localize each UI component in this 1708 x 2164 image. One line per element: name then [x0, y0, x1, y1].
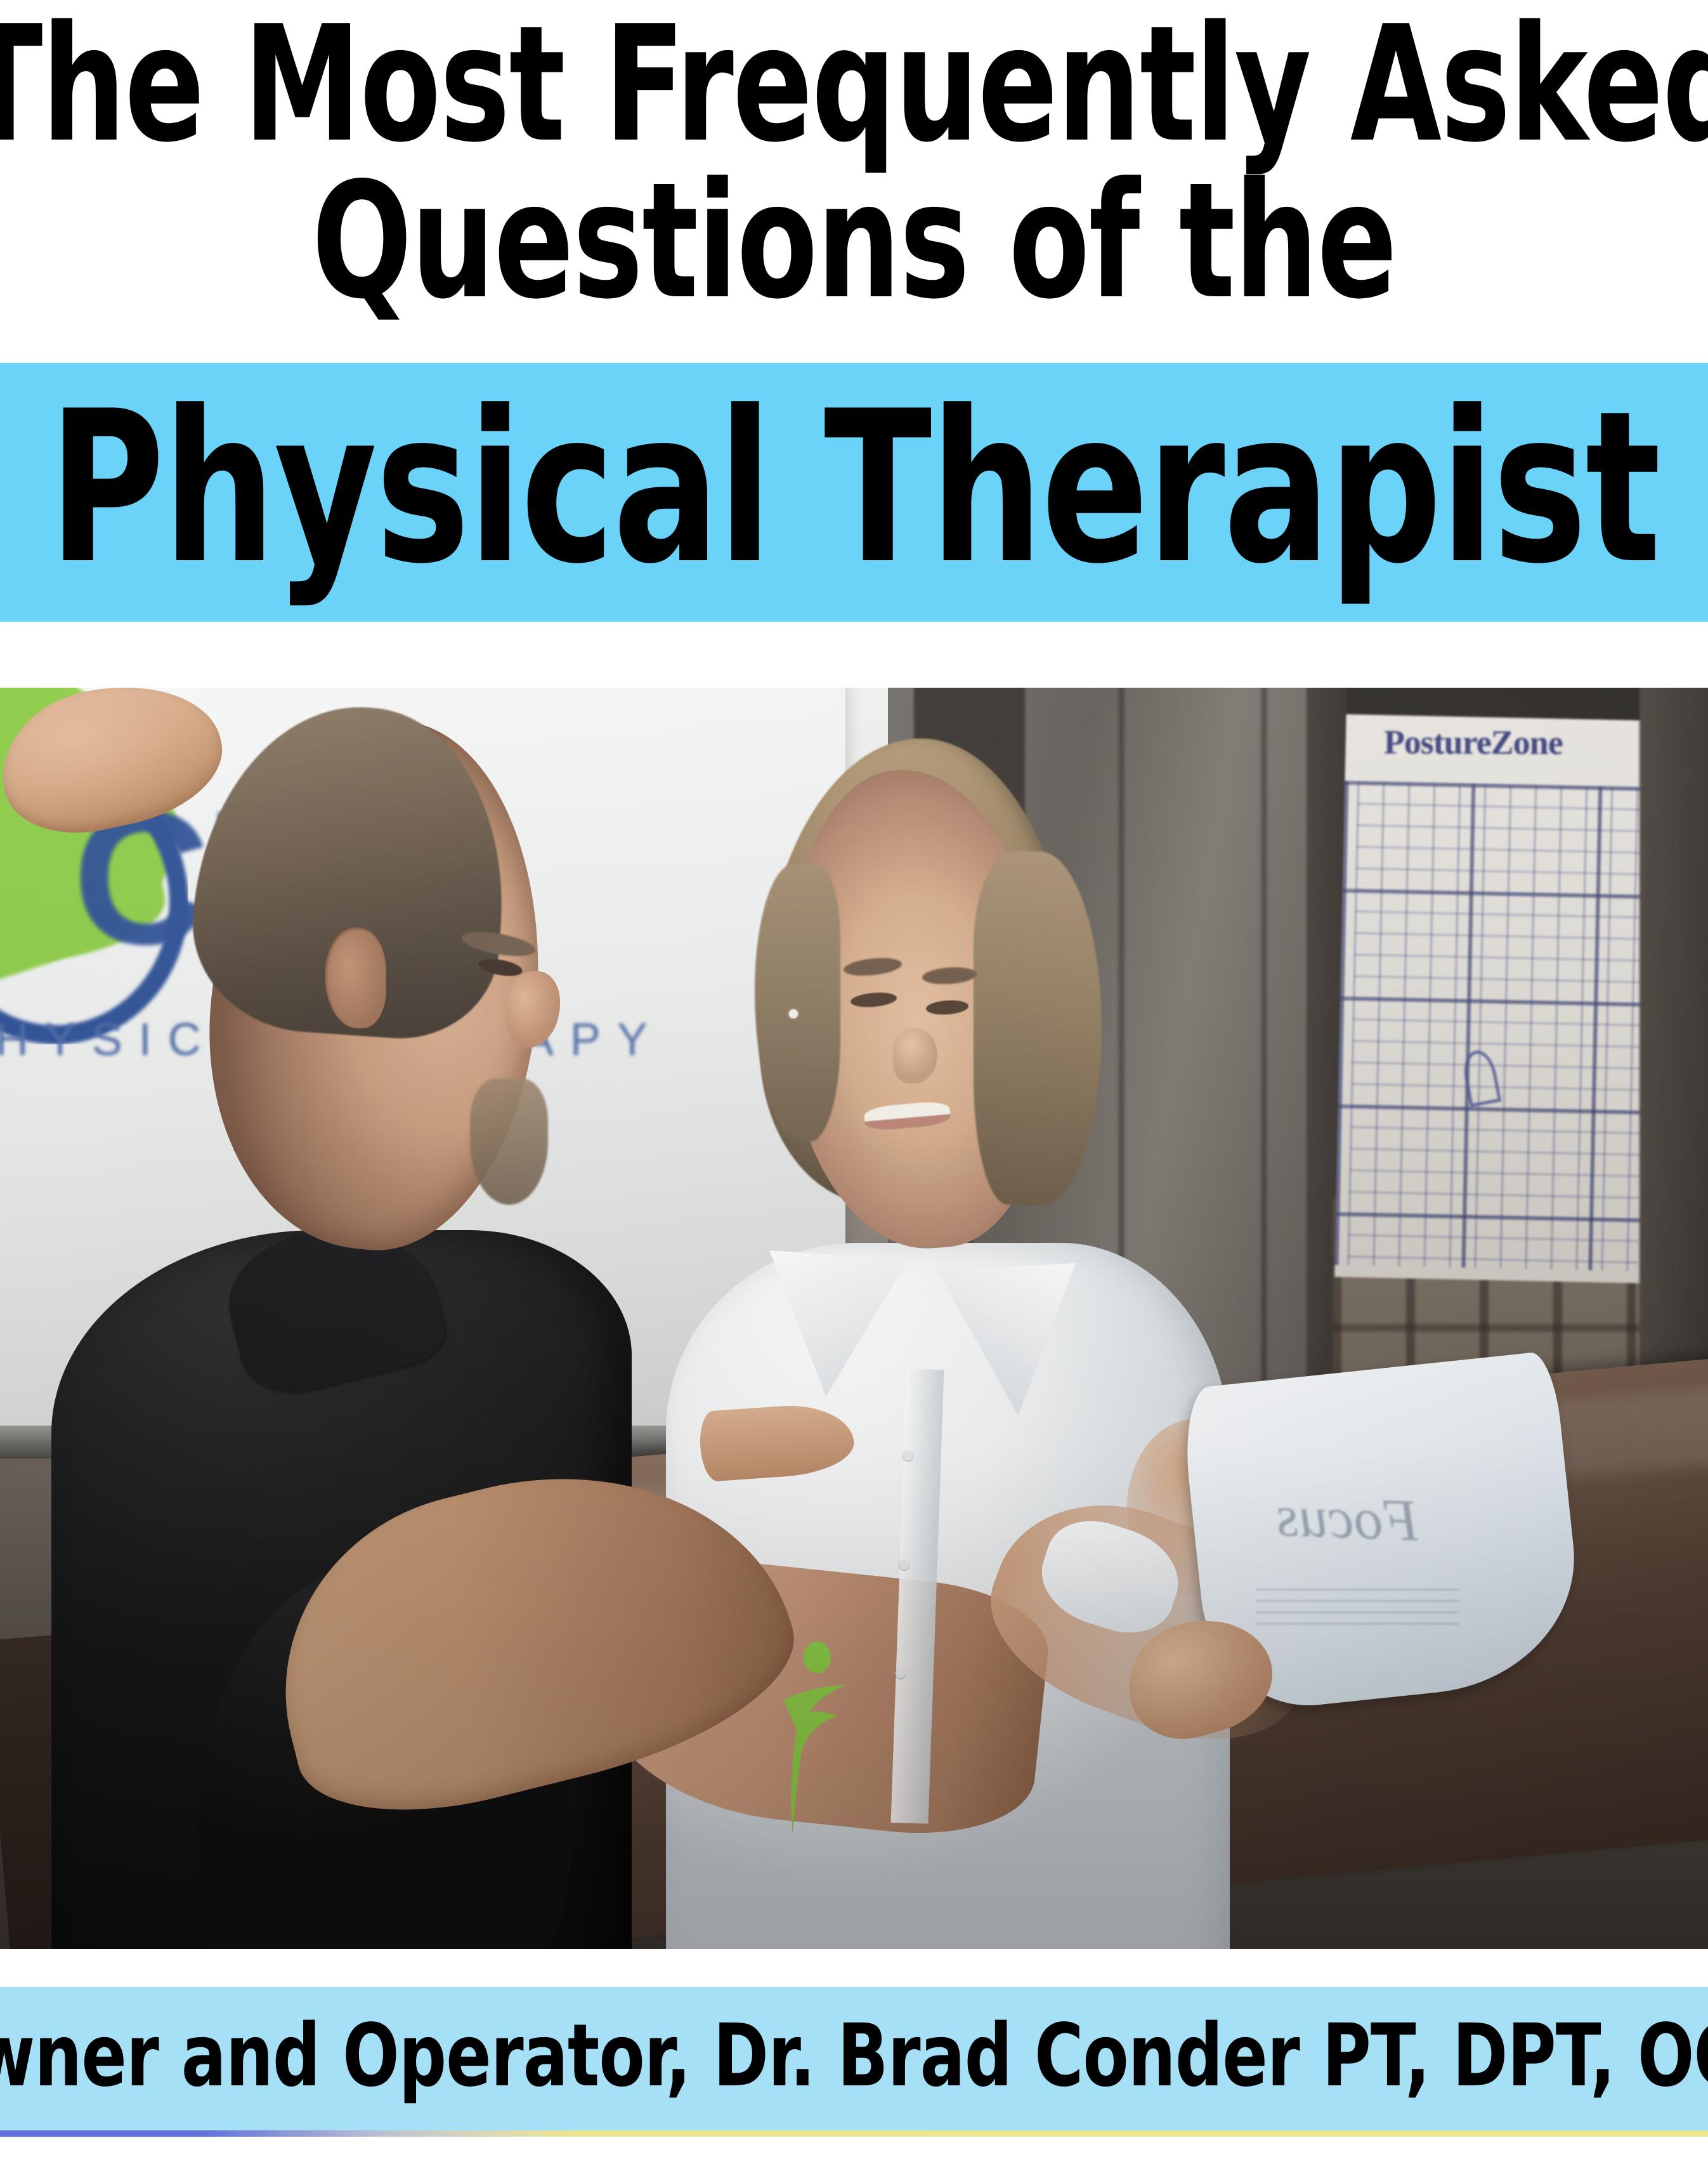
- headline-text: Physical Therapist: [49, 383, 1659, 601]
- cover-title-line-1: The Most Frequently Asked: [0, 9, 1708, 161]
- man-goatee: [470, 1079, 549, 1205]
- page-bottom-margin: [0, 2137, 1708, 2164]
- paper-script-text: Focus: [1275, 1481, 1420, 1554]
- right-wall-edge: [1640, 688, 1708, 1457]
- footer-banner: Owner and Operator, Dr. Brad Conder PT, …: [0, 1987, 1708, 2130]
- footer-credit-text: Owner and Operator, Dr. Brad Conder PT, …: [0, 2013, 1708, 2104]
- paper-text-lines: [1256, 1589, 1459, 1634]
- chart-bold-grid: [1334, 781, 1660, 1272]
- woman-pearl-earring: [789, 1009, 798, 1018]
- posturezone-chart: PostureZone: [1334, 688, 1663, 1283]
- woman-hair-side: [974, 851, 1102, 1205]
- cover-title-block: The Most Frequently Asked Questions of t…: [0, 0, 1708, 363]
- cover-photo: CUS PHYSICAL THERAPY PostureZone Focus: [0, 688, 1708, 1949]
- posturezone-chart-title: PostureZone: [1383, 723, 1562, 763]
- cover-title-line-2: Questions of the: [312, 166, 1397, 317]
- running-figure-logo-icon: [765, 1640, 861, 1842]
- chart-top-bar: [1346, 688, 1663, 721]
- headline-banner: Physical Therapist: [0, 363, 1708, 622]
- footer-gradient-rule: [0, 2130, 1708, 2137]
